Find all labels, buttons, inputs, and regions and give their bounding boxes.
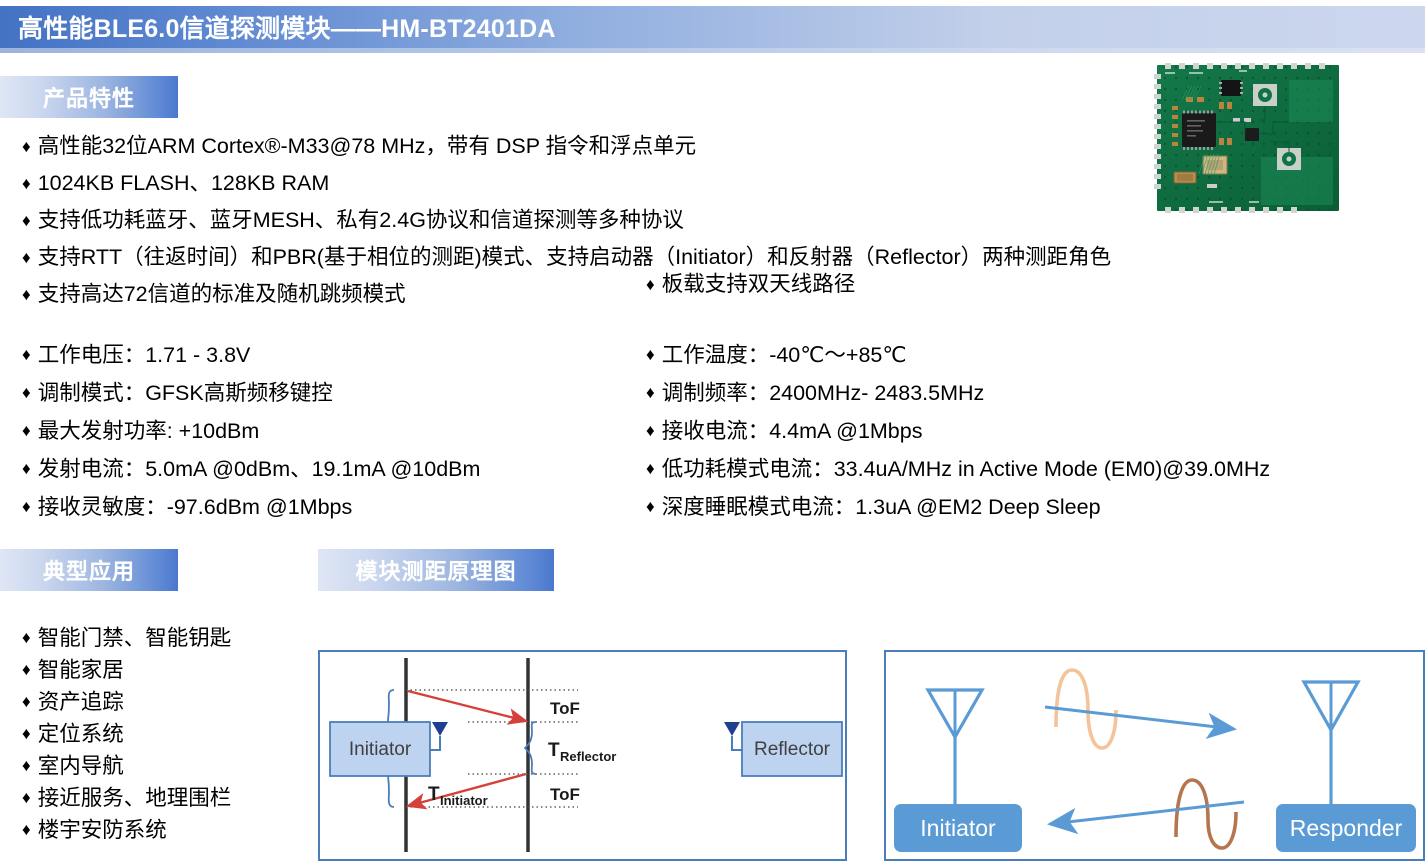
diamond-bullet-icon: ♦ <box>22 718 31 750</box>
list-item: ♦板载支持双天线路径 <box>646 266 855 303</box>
diamond-bullet-icon: ♦ <box>22 374 31 412</box>
spec-list-left: ♦工作电压：1.71 - 3.8V ♦调制模式：GFSK高斯频移键控 ♦最大发射… <box>22 336 480 526</box>
diamond-bullet-icon: ♦ <box>22 165 31 202</box>
diamond-bullet-icon: ♦ <box>22 782 31 814</box>
pcb-module-photo <box>1149 62 1349 214</box>
list-item-label: 发射电流：5.0mA @0dBm、19.1mA @10dBm <box>38 450 481 488</box>
list-item-label: 楼宇安防系统 <box>38 814 167 846</box>
section-badge-diagram-label: 模块测距原理图 <box>355 554 516 586</box>
diamond-bullet-icon: ♦ <box>646 488 655 526</box>
diamond-bullet-icon: ♦ <box>22 750 31 782</box>
diamond-bullet-icon: ♦ <box>22 128 31 165</box>
list-item-label: 接近服务、地理围栏 <box>38 782 232 814</box>
list-item: ♦接收电流：4.4mA @1Mbps <box>646 412 1270 450</box>
diamond-bullet-icon: ♦ <box>22 412 31 450</box>
list-item-label: 工作电压：1.71 - 3.8V <box>38 336 251 374</box>
diagram-rtt-panel: Initiator Reflector ToF ToF T Initiator … <box>318 650 847 861</box>
application-list: ♦智能门禁、智能钥匙 ♦智能家居 ♦资产追踪 ♦定位系统 ♦室内导航 ♦接近服务… <box>22 622 231 846</box>
list-item: ♦定位系统 <box>22 718 231 750</box>
diamond-bullet-icon: ♦ <box>646 450 655 488</box>
feature-list-extra: ♦板载支持双天线路径 <box>646 266 855 303</box>
list-item: ♦室内导航 <box>22 750 231 782</box>
title-bar-shadow <box>0 48 1425 53</box>
list-item: ♦支持高达72信道的标准及随机跳频模式 <box>22 276 1111 313</box>
list-item-label: 室内导航 <box>38 750 124 782</box>
list-item-label: 板载支持双天线路径 <box>662 266 856 303</box>
list-item: ♦调制频率：2400MHz- 2483.5MHz <box>646 374 1270 412</box>
initiator-box-label: Initiator <box>349 739 412 760</box>
list-item: ♦发射电流：5.0mA @0dBm、19.1mA @10dBm <box>22 450 480 488</box>
diamond-bullet-icon: ♦ <box>22 276 31 313</box>
list-item: ♦调制模式：GFSK高斯频移键控 <box>22 374 480 412</box>
list-item-label: 接收电流：4.4mA @1Mbps <box>662 412 923 450</box>
list-item-label: 支持高达72信道的标准及随机跳频模式 <box>38 276 406 313</box>
list-item: ♦楼宇安防系统 <box>22 814 231 846</box>
list-item: ♦1024KB FLASH、128KB RAM <box>22 165 1111 202</box>
tof-top-label: ToF <box>550 699 580 718</box>
list-item-label: 1024KB FLASH、128KB RAM <box>38 165 330 202</box>
list-item: ♦深度睡眠模式电流：1.3uA @EM2 Deep Sleep <box>646 488 1270 526</box>
list-item-label: 调制频率：2400MHz- 2483.5MHz <box>662 374 985 412</box>
diamond-bullet-icon: ♦ <box>646 374 655 412</box>
initiator-chip-label: Initiator <box>920 815 996 841</box>
diamond-bullet-icon: ♦ <box>22 686 31 718</box>
section-badge-applications: 典型应用 <box>0 549 178 591</box>
tof-bottom-label: ToF <box>550 785 580 804</box>
list-item: ♦智能家居 <box>22 654 231 686</box>
list-item-label: 定位系统 <box>38 718 124 750</box>
page-title-bar: 高性能BLE6.0信道探测模块——HM-BT2401DA <box>0 6 1425 48</box>
responder-chip-label: Responder <box>1290 815 1403 841</box>
list-item: ♦低功耗模式电流：33.4uA/MHz in Active Mode (EM0)… <box>646 450 1270 488</box>
list-item: ♦工作温度：-40℃～+85℃ <box>646 336 1270 374</box>
diamond-bullet-icon: ♦ <box>22 450 31 488</box>
diagram-pbr-panel: Initiator Responder <box>884 650 1425 861</box>
section-badge-features: 产品特性 <box>0 76 178 118</box>
diamond-bullet-icon: ♦ <box>22 654 31 686</box>
spec-list-right: ♦工作温度：-40℃～+85℃ ♦调制频率：2400MHz- 2483.5MHz… <box>646 336 1270 526</box>
section-badge-features-label: 产品特性 <box>43 81 135 113</box>
diamond-bullet-icon: ♦ <box>22 814 31 846</box>
svg-text:T: T <box>428 784 440 805</box>
list-item-label: 接收灵敏度：-97.6dBm @1Mbps <box>38 488 353 526</box>
list-item: ♦接近服务、地理围栏 <box>22 782 231 814</box>
feature-list-main: ♦高性能32位ARM Cortex®-M33@78 MHz，带有 DSP 指令和… <box>22 128 1111 313</box>
list-item: ♦高性能32位ARM Cortex®-M33@78 MHz，带有 DSP 指令和… <box>22 128 1111 165</box>
reflector-box-label: Reflector <box>754 739 831 760</box>
list-item-label: 调制模式：GFSK高斯频移键控 <box>38 374 333 412</box>
diamond-bullet-icon: ♦ <box>646 336 655 374</box>
list-item-label: 支持RTT（往返时间）和PBR(基于相位的测距)模式、支持启动器（Initiat… <box>38 239 1111 276</box>
page-title: 高性能BLE6.0信道探测模块——HM-BT2401DA <box>18 9 556 45</box>
svg-text:T: T <box>548 740 560 761</box>
list-item: ♦最大发射功率: +10dBm <box>22 412 480 450</box>
list-item: ♦支持RTT（往返时间）和PBR(基于相位的测距)模式、支持启动器（Initia… <box>22 239 1111 276</box>
list-item-label: 资产追踪 <box>38 686 124 718</box>
list-item: ♦资产追踪 <box>22 686 231 718</box>
list-item-label: 高性能32位ARM Cortex®-M33@78 MHz，带有 DSP 指令和浮… <box>38 128 696 165</box>
list-item-label: 深度睡眠模式电流：1.3uA @EM2 Deep Sleep <box>662 488 1101 526</box>
list-item: ♦工作电压：1.71 - 3.8V <box>22 336 480 374</box>
svg-text:Reflector: Reflector <box>560 749 616 764</box>
diamond-bullet-icon: ♦ <box>22 336 31 374</box>
list-item-label: 智能门禁、智能钥匙 <box>38 622 232 654</box>
svg-text:Initiator: Initiator <box>440 793 488 808</box>
list-item-label: 智能家居 <box>38 654 124 686</box>
list-item-label: 最大发射功率: +10dBm <box>38 412 260 450</box>
list-item: ♦智能门禁、智能钥匙 <box>22 622 231 654</box>
section-badge-diagram: 模块测距原理图 <box>318 549 554 591</box>
diamond-bullet-icon: ♦ <box>646 412 655 450</box>
diamond-bullet-icon: ♦ <box>22 202 31 239</box>
list-item-label: 支持低功耗蓝牙、蓝牙MESH、私有2.4G协议和信道探测等多种协议 <box>38 202 684 239</box>
diamond-bullet-icon: ♦ <box>22 239 31 276</box>
diamond-bullet-icon: ♦ <box>22 488 31 526</box>
list-item-label: 工作温度：-40℃～+85℃ <box>662 336 907 374</box>
list-item: ♦接收灵敏度：-97.6dBm @1Mbps <box>22 488 480 526</box>
list-item-label: 低功耗模式电流：33.4uA/MHz in Active Mode (EM0)@… <box>662 450 1270 488</box>
diamond-bullet-icon: ♦ <box>22 622 31 654</box>
list-item: ♦支持低功耗蓝牙、蓝牙MESH、私有2.4G协议和信道探测等多种协议 <box>22 202 1111 239</box>
section-badge-applications-label: 典型应用 <box>43 554 135 586</box>
diamond-bullet-icon: ♦ <box>646 266 655 303</box>
